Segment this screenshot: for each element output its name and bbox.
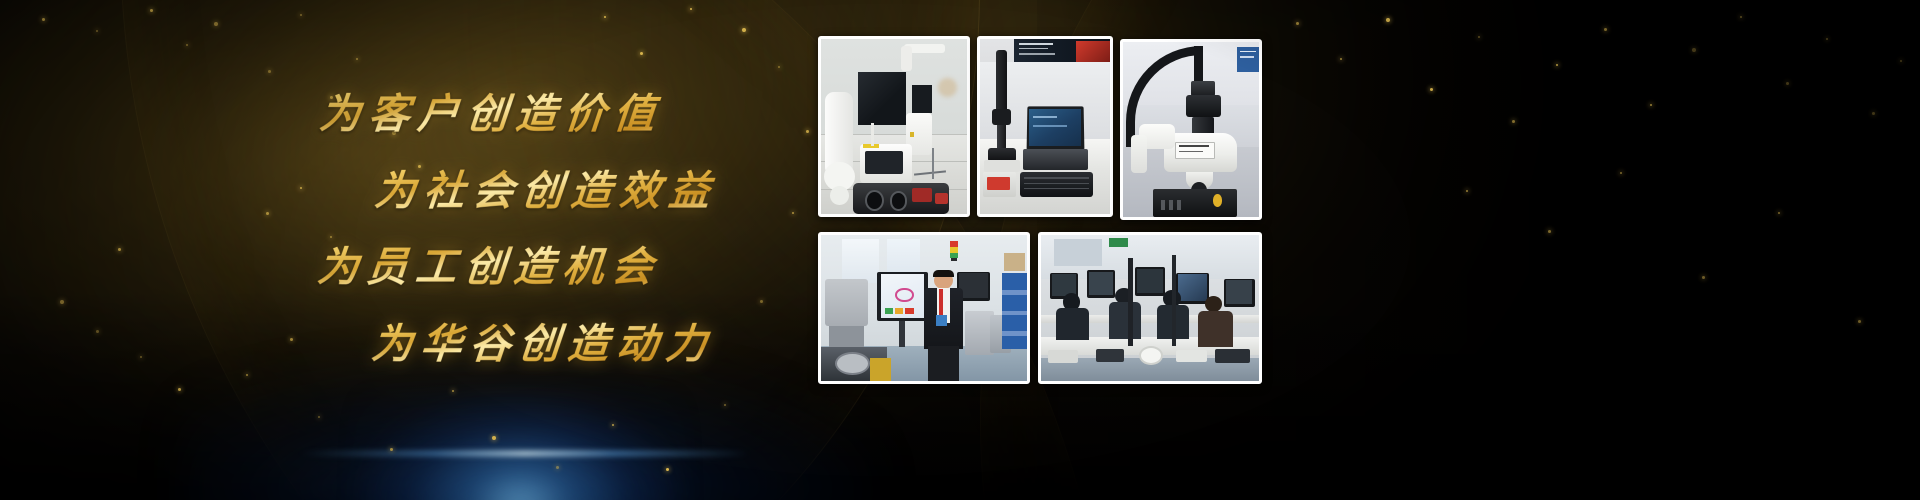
- slogan-line-1: 为客户创造价值: [317, 80, 772, 140]
- photo-scene: [821, 39, 967, 214]
- photo-collage: [818, 36, 1268, 384]
- blue-light-beam: [300, 451, 750, 456]
- slogan-line-4: 为华谷创造动力: [369, 310, 772, 370]
- photo-scene: [1041, 235, 1259, 381]
- photo-scene: [980, 39, 1110, 214]
- slogan-block: 为客户创造价值 为社会创造效益 为员工创造机会 为华谷创造动力: [300, 80, 770, 370]
- photo-lab-robot-room: [818, 36, 970, 217]
- photo-microscope-closeup: [1120, 39, 1262, 220]
- photo-office-workstations: [1038, 232, 1262, 384]
- photo-microscope-laptop: [977, 36, 1113, 217]
- blue-glow-burst: [355, 390, 685, 500]
- slogan-line-3: 为员工创造机会: [315, 233, 772, 293]
- slogan-line-2: 为社会创造效益: [372, 157, 772, 217]
- photo-scene: [1123, 42, 1259, 217]
- photo-engineer-presentation: [818, 232, 1030, 384]
- hero-banner: 为客户创造价值 为社会创造效益 为员工创造机会 为华谷创造动力: [0, 0, 1920, 500]
- photo-scene: [821, 235, 1027, 381]
